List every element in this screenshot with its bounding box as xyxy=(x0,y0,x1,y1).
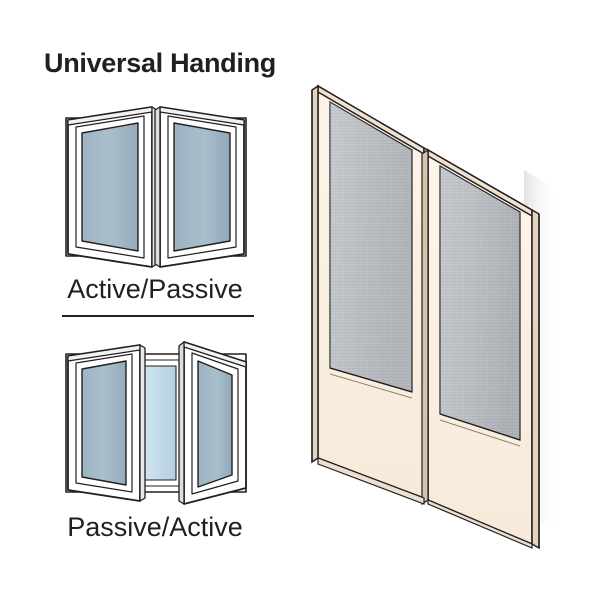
illustration-stage: Universal Handing xyxy=(0,0,600,600)
config-label-passive-active: Passive/Active xyxy=(0,512,310,543)
right-panel-lock-edge xyxy=(532,210,539,548)
double-screen-door-illustration xyxy=(296,62,592,548)
double-door-passive-active-icon xyxy=(56,340,256,506)
config-label-active-passive: Active/Passive xyxy=(0,274,310,305)
double-door-active-passive-icon xyxy=(56,104,256,270)
page-title: Universal Handing xyxy=(44,48,276,79)
meeting-stile-right xyxy=(422,150,428,504)
section-divider xyxy=(62,315,254,317)
left-panel-hinge-edge xyxy=(312,86,318,462)
